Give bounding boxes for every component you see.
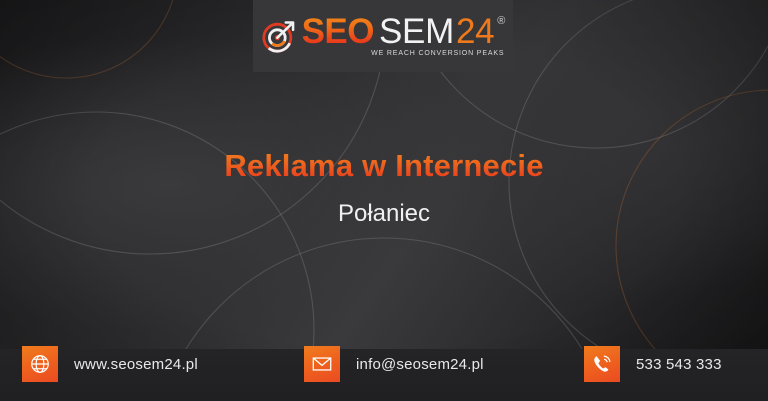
contact-email[interactable]: info@seosem24.pl (304, 346, 484, 382)
brand-logo: SEO SEM 24 ® WE REACH CONVERSION PEAKS (253, 0, 513, 72)
brand-tagline: WE REACH CONVERSION PEAKS (302, 50, 506, 57)
contact-website-label: www.seosem24.pl (74, 356, 198, 373)
target-arrow-icon (261, 18, 297, 54)
brand-word-seo: SEO (302, 14, 374, 49)
brand-word-sem: SEM (379, 14, 454, 49)
contact-phone-label: 533 543 333 (636, 356, 722, 373)
brand-wordmark: SEO SEM 24 ® WE REACH CONVERSION PEAKS (302, 14, 506, 58)
brand-logo-plate: SEO SEM 24 ® WE REACH CONVERSION PEAKS (253, 0, 513, 72)
envelope-icon (304, 346, 340, 382)
banner-canvas: SEO SEM 24 ® WE REACH CONVERSION PEAKS R… (0, 0, 768, 401)
brand-word-24: 24 (456, 14, 494, 49)
phone-icon (584, 346, 620, 382)
contact-email-label: info@seosem24.pl (356, 356, 484, 373)
globe-icon (22, 346, 58, 382)
contact-phone[interactable]: 533 543 333 (584, 346, 722, 382)
page-subtitle: Połaniec (0, 200, 768, 228)
page-title: Reklama w Internecie (0, 148, 768, 184)
registered-trademark-icon: ® (497, 16, 505, 27)
contact-website[interactable]: www.seosem24.pl (22, 346, 198, 382)
